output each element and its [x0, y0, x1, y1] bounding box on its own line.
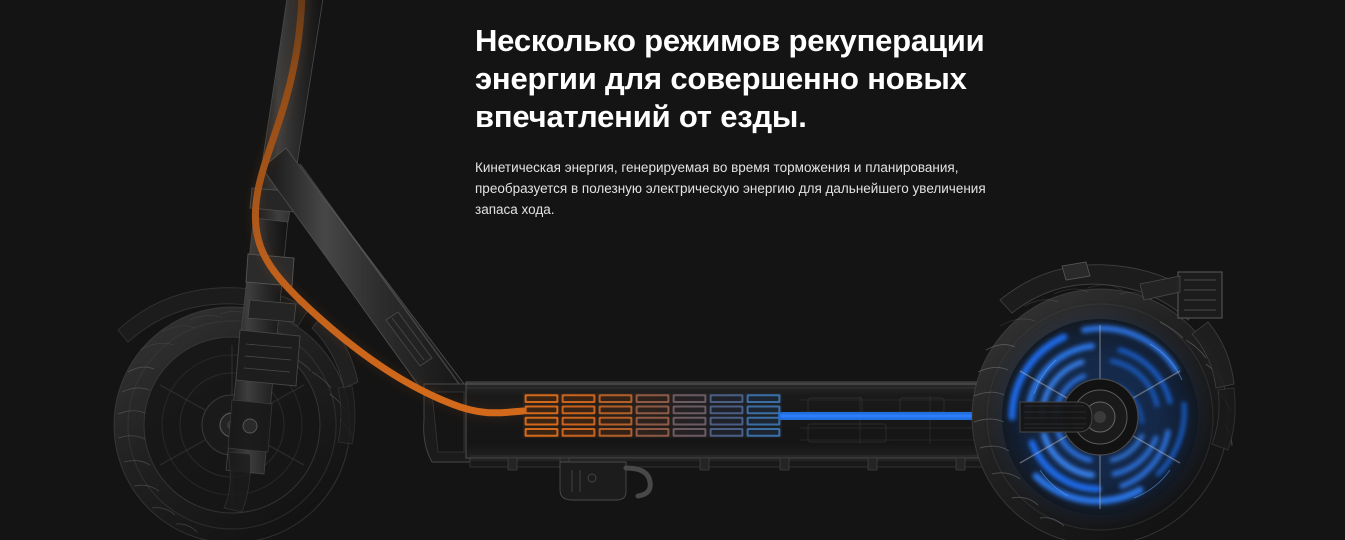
body-line-3: запаса хода. [475, 199, 1040, 220]
battery-cell-grid [523, 393, 782, 438]
copy-block: Несколько режимов рекуперации энергии дл… [475, 22, 1075, 220]
body-line-1: Кинетическая энергия, генерируемая во вр… [475, 157, 1040, 178]
body-paragraph: Кинетическая энергия, генерируемая во вр… [475, 136, 1040, 220]
energy-recuperation-banner: Несколько режимов рекуперации энергии дл… [0, 0, 1345, 540]
taillight-bracket [1178, 272, 1222, 318]
rear-wheel [972, 262, 1235, 540]
body-line-2: преобразуется в полезную электрическую э… [475, 178, 1040, 199]
page-title: Несколько режимов рекуперации энергии дл… [475, 22, 1020, 136]
controller-pod [560, 462, 626, 500]
headline-line-3: впечатлений от езды. [475, 98, 1020, 136]
headline-line-2: энергии для совершенно новых [475, 60, 1020, 98]
battery-grid-wash [523, 393, 782, 438]
headline-line-1: Несколько режимов рекуперации [475, 22, 1020, 60]
